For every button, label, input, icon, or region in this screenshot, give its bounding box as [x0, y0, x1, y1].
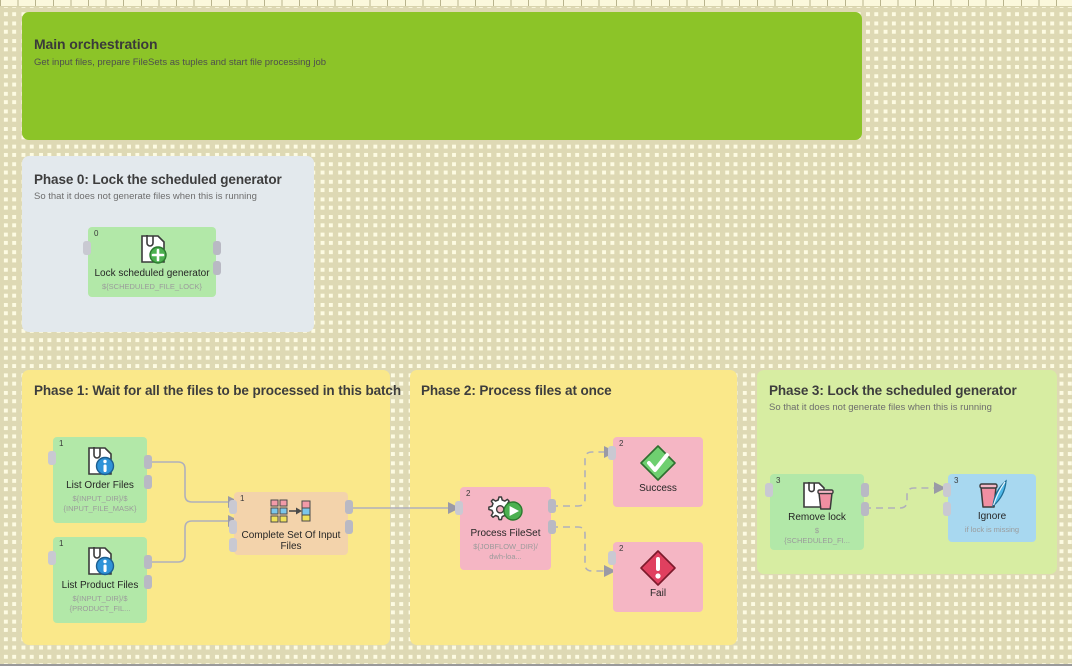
node-subtitle: ${SCHEDULED_FILE_LOCK}: [91, 282, 213, 291]
group-header: Phase 1: Wait for all the files to be pr…: [34, 383, 401, 398]
gear-play-icon: [460, 493, 551, 527]
node-subtitle-line2: {PRODUCT_FIL...: [56, 604, 144, 613]
node-fail[interactable]: 2 Fail: [613, 542, 703, 612]
trash-feather-icon: [948, 479, 1036, 511]
node-list-order-files[interactable]: 1 List Order Files ${INPUT_DIR}/$ {INPUT…: [53, 437, 147, 523]
node-title: Ignore: [950, 511, 1034, 522]
node-subtitle-line2: dwh-loa...: [463, 552, 548, 561]
group-header: Phase 3: Lock the scheduled generator So…: [769, 383, 1017, 413]
group-header: Phase 0: Lock the scheduled generator So…: [34, 172, 282, 202]
node-success[interactable]: 2 Success: [613, 437, 703, 507]
node-remove-lock[interactable]: 3 Remove lock $ {SCHEDULED_FI...: [770, 474, 864, 550]
group-title: Phase 2: Process files at once: [421, 383, 612, 398]
check-diamond-icon: [613, 444, 703, 482]
node-title: List Product Files: [55, 580, 145, 591]
node-title: Fail: [615, 588, 701, 599]
merge-tuples-icon: [234, 498, 348, 524]
document-trash-icon: [770, 480, 864, 512]
group-subtitle: Get input files, prepare FileSets as tup…: [34, 57, 326, 68]
node-subtitle: if lock is missing: [951, 525, 1033, 534]
document-info-icon: [53, 444, 147, 478]
node-title: Process FileSet: [462, 528, 549, 539]
document-info-icon: [53, 544, 147, 578]
node-subtitle-line2: {INPUT_FILE_MASK}: [56, 504, 144, 513]
node-title: Remove lock: [772, 512, 862, 523]
node-subtitle-line1: ${INPUT_DIR}/$: [56, 494, 144, 503]
node-title: Complete Set Of Input Files: [236, 530, 346, 552]
node-process-fileset[interactable]: 2 Process FileSet ${JOBFLOW_DIR}/ dwh-lo…: [460, 487, 551, 570]
document-add-icon: [88, 233, 216, 265]
node-title: List Order Files: [55, 480, 145, 491]
node-subtitle-line1: ${JOBFLOW_DIR}/: [463, 542, 548, 551]
node-ignore[interactable]: 3 Ignore if lock is missing: [948, 474, 1036, 542]
node-subtitle-line2: {SCHEDULED_FI...: [773, 536, 861, 545]
group-title: Phase 1: Wait for all the files to be pr…: [34, 383, 401, 398]
group-title: Main orchestration: [34, 36, 326, 52]
ruler-top: [0, 0, 1072, 7]
node-title: Lock scheduled generator: [90, 268, 214, 279]
node-subtitle-line1: $: [773, 526, 861, 535]
alert-diamond-icon: [613, 549, 703, 587]
group-main-orchestration[interactable]: Main orchestration Get input files, prep…: [22, 12, 862, 140]
node-list-product-files[interactable]: 1 List Product Files ${INPUT_DIR}/$ {PRO…: [53, 537, 147, 623]
group-header: Main orchestration Get input files, prep…: [34, 36, 326, 68]
node-complete-set-of-input-files[interactable]: 1 Complete Set Of Input Files: [234, 492, 348, 555]
group-title: Phase 0: Lock the scheduled generator: [34, 172, 282, 187]
group-header: Phase 2: Process files at once: [421, 383, 612, 398]
group-subtitle: So that it does not generate files when …: [769, 402, 1017, 413]
node-lock-scheduled-generator[interactable]: 0 Lock scheduled generator ${SCHEDULED_F…: [88, 227, 216, 297]
group-title: Phase 3: Lock the scheduled generator: [769, 383, 1017, 398]
node-subtitle-line1: ${INPUT_DIR}/$: [56, 594, 144, 603]
node-title: Success: [615, 483, 701, 494]
group-subtitle: So that it does not generate files when …: [34, 191, 282, 202]
